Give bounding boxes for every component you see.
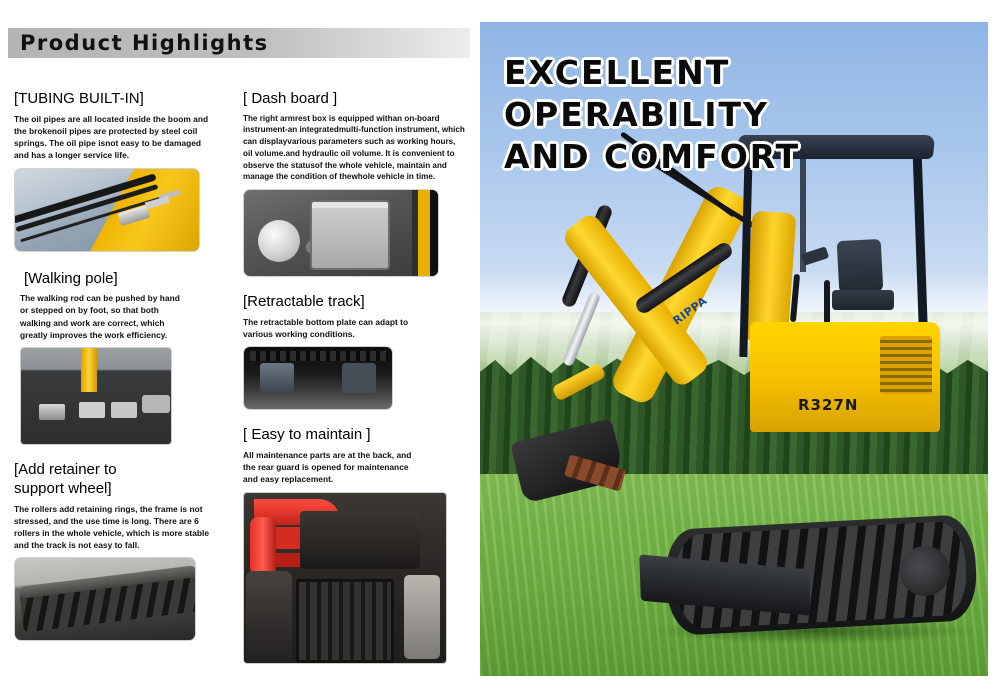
feature-title: [Walking pole] (14, 270, 214, 289)
model-label: R327N (798, 394, 894, 416)
feature-description: The walking rod can be pushed by hand or… (14, 292, 182, 341)
feature-add-retainer: [Add retainer to support wheel] The roll… (14, 461, 214, 641)
feature-easy-to-maintain: [ Easy to maintain ] All maintenance par… (243, 426, 465, 663)
feature-title: [ Easy to maintain ] (243, 426, 465, 445)
engine-block (300, 511, 420, 569)
specs-area: Product Highlights [TUBING BUILT-IN] The… (0, 0, 470, 690)
hydraulic-tubing-photo (14, 168, 200, 252)
feature-walking-pole: [Walking pole] The walking rod can be pu… (14, 270, 214, 446)
operator-seat-base (832, 290, 894, 310)
brochure-page: Product Highlights [TUBING BUILT-IN] The… (0, 0, 999, 690)
feature-title: [ Dash board ] (243, 90, 465, 109)
feature-description: The right armrest box is equipped withan… (243, 113, 465, 183)
air-filter (246, 571, 292, 663)
hero-headline: EXCELLENT OPERABILITY AND COMFORT (504, 52, 978, 179)
feature-description: The oil pipes are all located inside the… (14, 113, 214, 162)
hero-panel: RIPPA R327N EXCELLENT OPERABILITY AND CO… (480, 22, 988, 676)
page-title: Product Highlights (20, 29, 269, 57)
retractable-track-photo (243, 346, 393, 410)
dashboard-photo (243, 189, 439, 277)
middle-feature-column: [ Dash board ] The right armrest box is … (243, 90, 465, 668)
air-intake-hose-lower (250, 517, 276, 575)
feature-title: [Retractable track] (243, 293, 465, 312)
bucket-linkage (551, 362, 606, 401)
feature-title: [Add retainer to support wheel] (14, 461, 214, 499)
feature-description: The rollers add retaining rings, the fra… (14, 503, 214, 552)
walking-pedals-photo (20, 347, 172, 445)
feature-dash-board: [ Dash board ] The right armrest box is … (243, 90, 465, 277)
radiator (296, 579, 394, 663)
left-feature-column: [TUBING BUILT-IN] The oil pipes are all … (14, 90, 214, 645)
dashboard-photo-yellow-panel (412, 190, 438, 277)
canopy-post-right (913, 152, 929, 347)
track-rollers-photo (14, 557, 196, 641)
engine-bay-photo (243, 492, 447, 664)
feature-title: [TUBING BUILT-IN] (14, 90, 214, 109)
feature-retractable-track: [Retractable track] The retractable bott… (243, 293, 465, 410)
feature-description: The retractable bottom plate can adapt t… (243, 316, 423, 340)
control-lever-right (824, 280, 830, 324)
operator-seat-back (837, 239, 884, 293)
track-drive-sprocket (900, 546, 950, 596)
feature-description: All maintenance parts are at the back, a… (243, 449, 425, 486)
fuel-filter (404, 575, 440, 659)
feature-tubing-built-in: [TUBING BUILT-IN] The oil pipes are all … (14, 90, 214, 252)
engine-vent-grill (880, 336, 932, 394)
